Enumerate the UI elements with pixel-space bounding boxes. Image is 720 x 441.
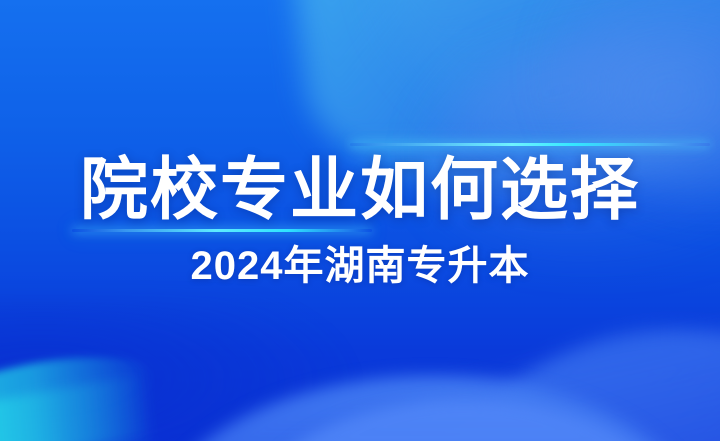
banner-text-block: 院校专业如何选择 2024年湖南专升本 bbox=[0, 0, 720, 441]
promo-banner: 院校专业如何选择 2024年湖南专升本 bbox=[0, 0, 720, 441]
banner-sub-title: 2024年湖南专升本 bbox=[191, 246, 530, 286]
banner-main-title: 院校专业如何选择 bbox=[80, 156, 640, 224]
